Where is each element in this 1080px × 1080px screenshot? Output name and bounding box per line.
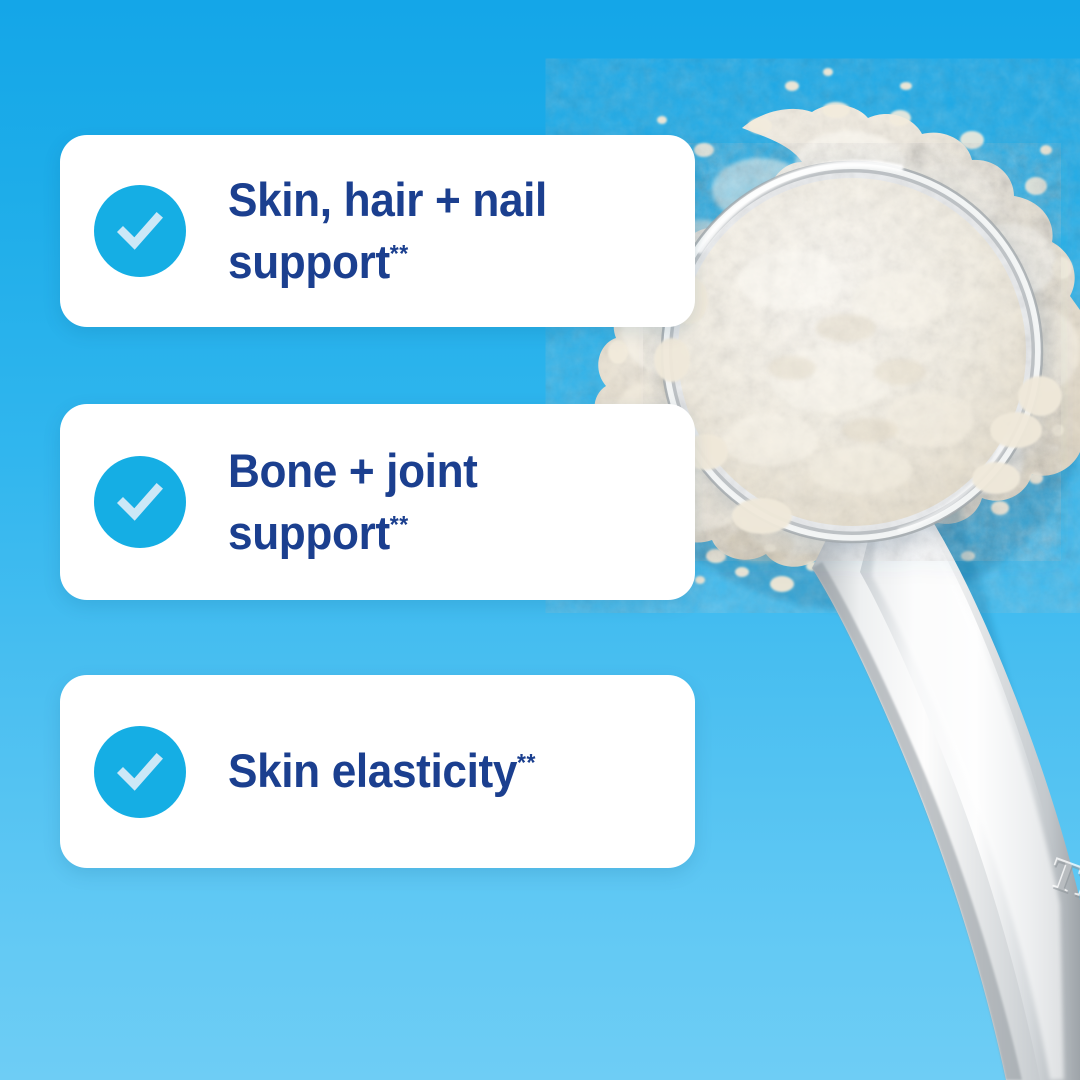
svg-text:TB: TB — [1043, 850, 1080, 916]
powder-over-rim — [654, 276, 1062, 534]
benefit-card[interactable]: Skin elasticity** — [60, 675, 695, 868]
check-icon — [94, 726, 186, 818]
check-icon — [94, 185, 186, 277]
check-icon — [94, 456, 186, 548]
benefit-text: Skin elasticity — [228, 744, 517, 797]
benefit-text: Skin, hair + nail support — [228, 173, 547, 288]
scoop-embossed-text: TB TB — [1042, 847, 1080, 916]
scoop-bowl — [662, 162, 1042, 542]
marketing-graphic: TB TB — [0, 0, 1080, 1080]
benefit-card[interactable]: Skin, hair + nail support** — [60, 135, 695, 327]
scoop-handle: TB TB — [812, 448, 1080, 1080]
svg-text:TB: TB — [1043, 847, 1080, 913]
benefit-label: Bone + joint support** — [228, 440, 478, 564]
footnote-marker: ** — [517, 750, 536, 777]
benefit-label: Skin elasticity** — [228, 740, 536, 802]
footnote-marker: ** — [390, 240, 409, 267]
benefit-card[interactable]: Bone + joint support** — [60, 404, 695, 600]
footnote-marker: ** — [390, 511, 409, 538]
powder-crumbs — [630, 68, 1064, 596]
benefit-label: Skin, hair + nail support** — [228, 169, 547, 293]
benefit-text: Bone + joint support — [228, 444, 478, 559]
